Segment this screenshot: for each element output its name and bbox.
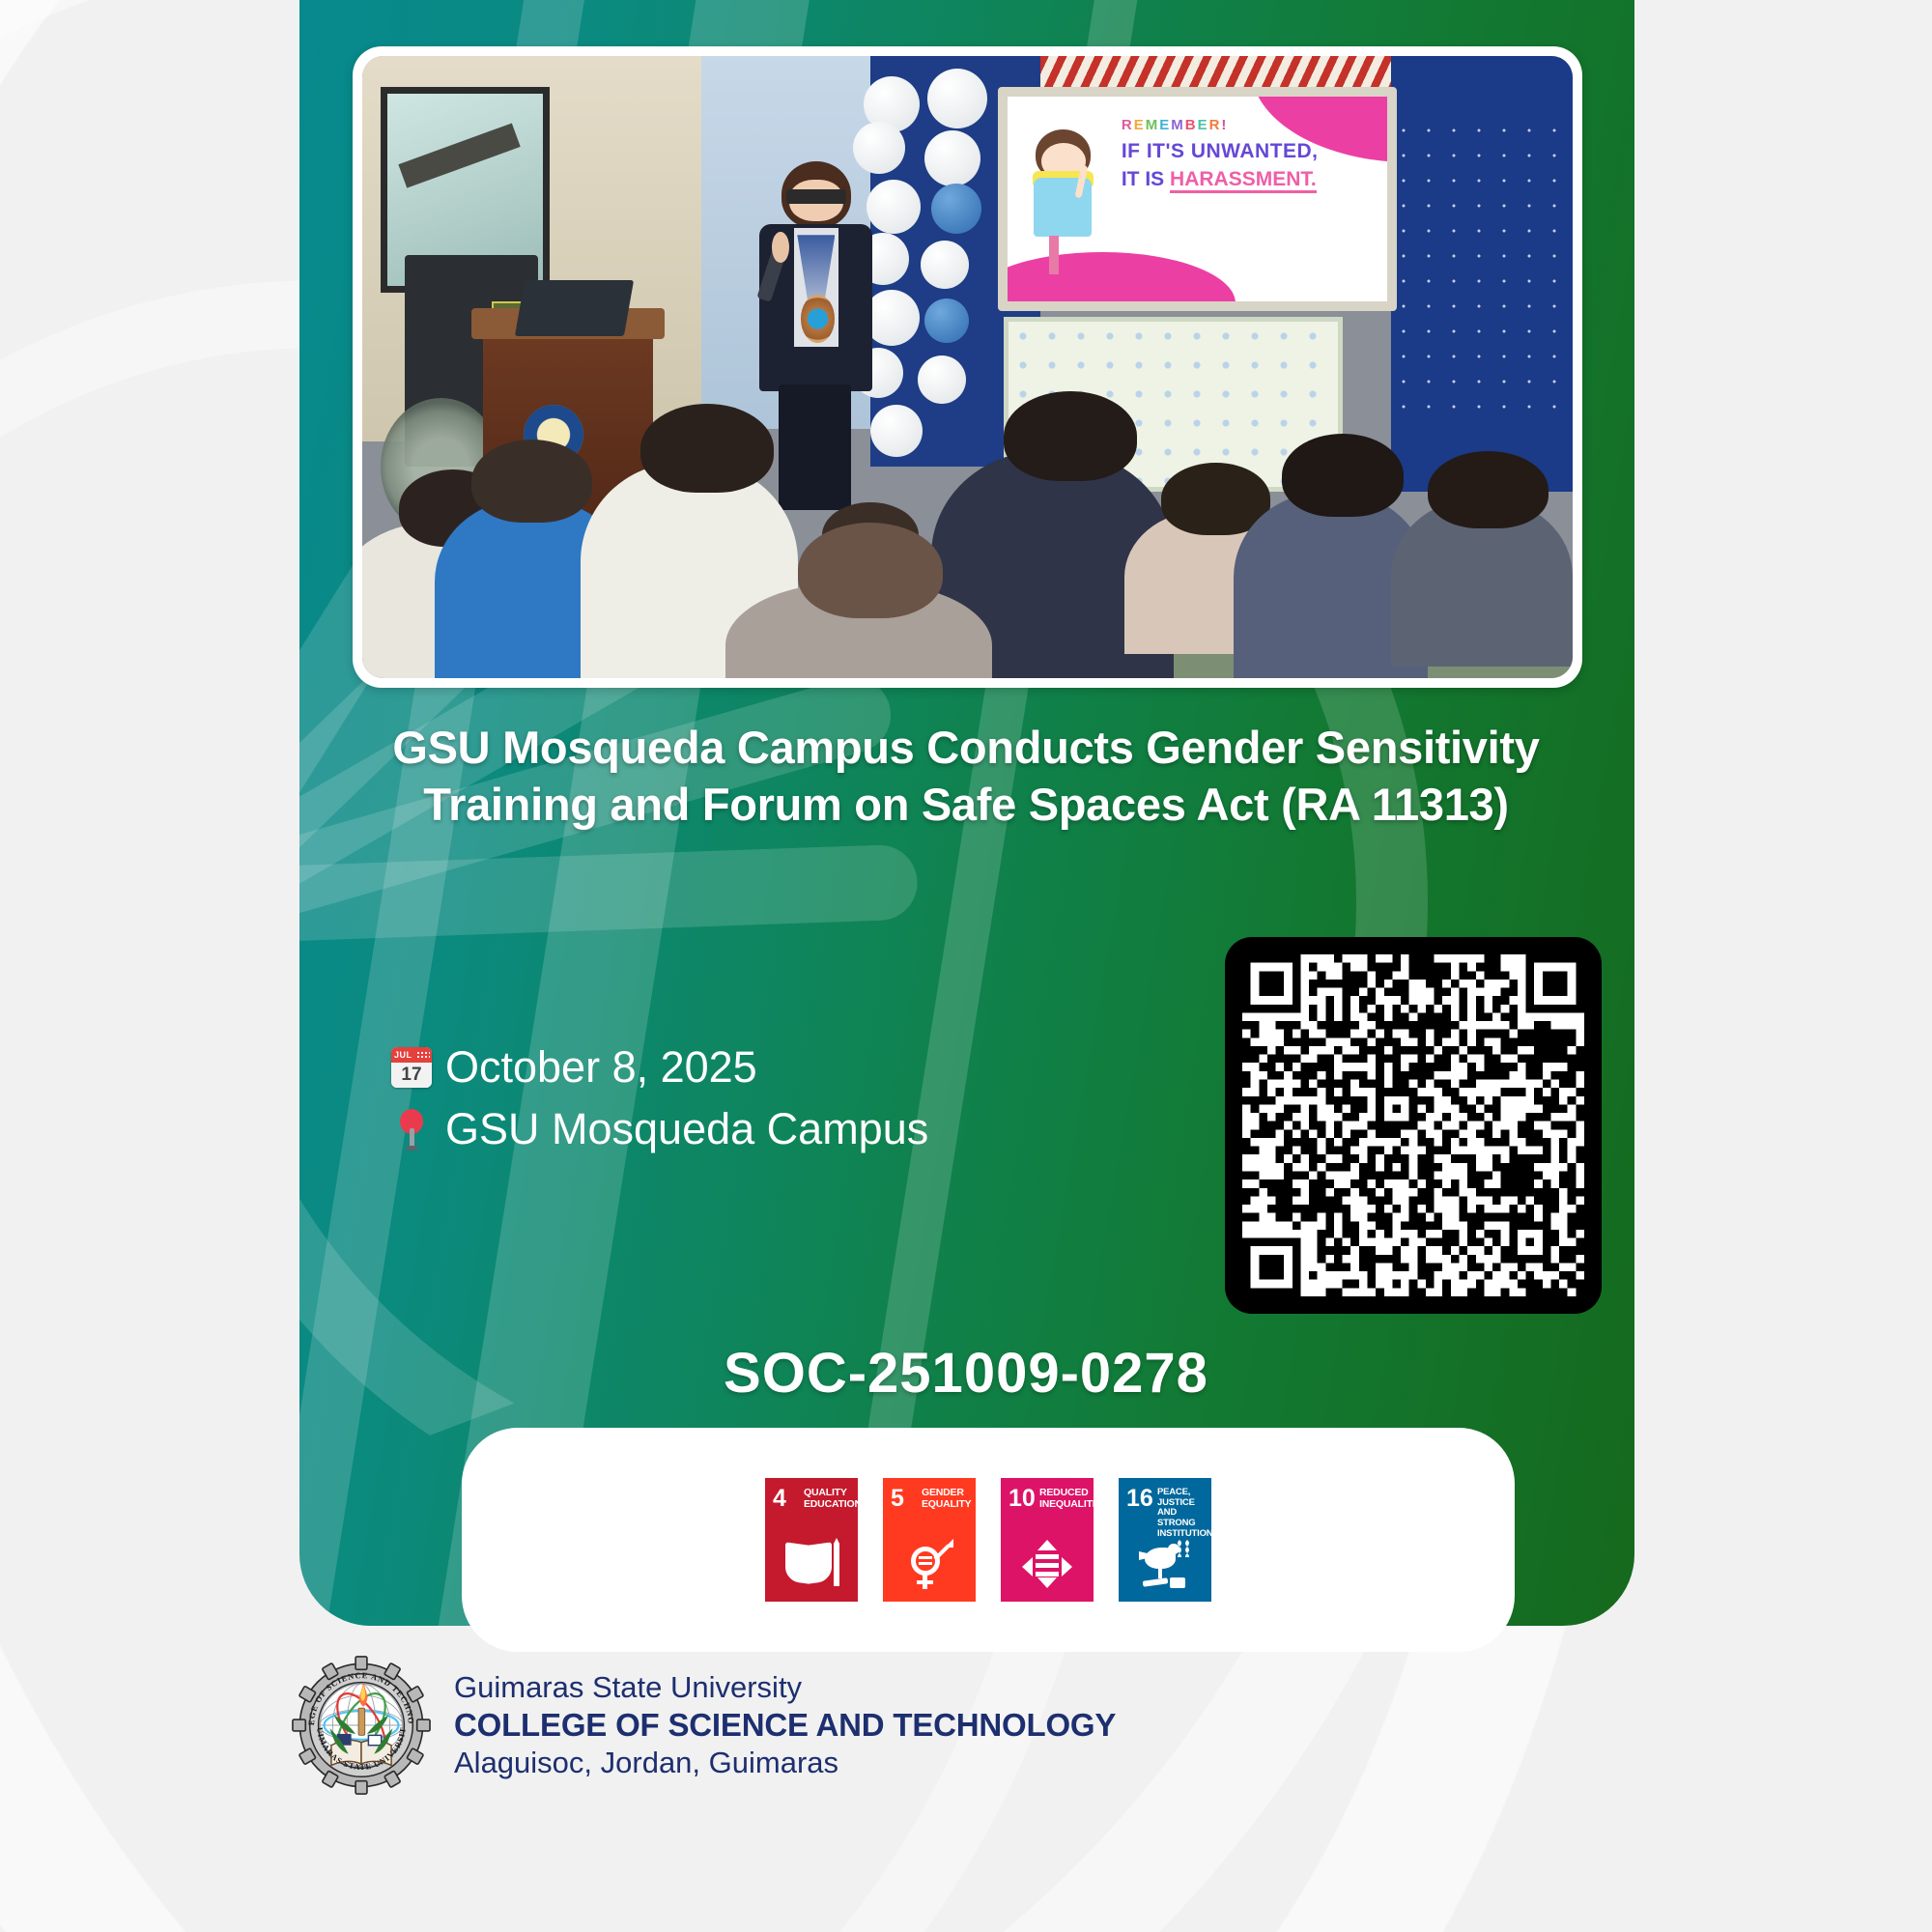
- event-location: GSU Mosqueda Campus: [445, 1098, 928, 1160]
- footer: 2015 COLLEGE OF SCIENCE AND TECHNOLOGY G…: [290, 1654, 1116, 1797]
- slide-remember-text: REMEMBER!: [1122, 117, 1373, 133]
- slide-line-1: IF IT'S UNWANTED,: [1122, 140, 1373, 163]
- calendar-icon-month: JUL: [391, 1047, 432, 1063]
- sdg-badges-panel: 4 QUALITY EDUCATION 5 GENDER EQUALITY 10…: [462, 1428, 1515, 1652]
- sdg-label: GENDER EQUALITY: [922, 1488, 971, 1511]
- photo-laptop: [515, 280, 634, 336]
- open-book-icon: [765, 1534, 858, 1594]
- event-photo: REMEMBER! IF IT'S UNWANTED, IT IS HARASS…: [362, 56, 1573, 678]
- university-seal-logo: 2015 COLLEGE OF SCIENCE AND TECHNOLOGY G…: [290, 1654, 433, 1797]
- equals-arrows-icon: [1001, 1534, 1094, 1594]
- footer-address: Alaguisoc, Jordan, Guimaras: [454, 1745, 1116, 1781]
- sdg-number: 10: [1009, 1487, 1036, 1511]
- gender-equality-icon: [883, 1534, 976, 1594]
- event-location-row: GSU Mosqueda Campus: [391, 1098, 928, 1160]
- dove-gavel-icon: [1119, 1534, 1211, 1594]
- sdg-label: QUALITY EDUCATION: [804, 1488, 853, 1511]
- sdg-badge-4: 4 QUALITY EDUCATION: [765, 1478, 858, 1602]
- event-meta: JUL 17 October 8, 2025 GSU Mosqueda Camp…: [391, 1037, 928, 1160]
- title-line-2: Training and Forum on Safe Spaces Act (R…: [343, 777, 1589, 834]
- footer-college: COLLEGE OF SCIENCE AND TECHNOLOGY: [454, 1706, 1116, 1745]
- slide-line-2: IT IS HARASSMENT.: [1122, 168, 1373, 191]
- footer-text: Guimaras State University COLLEGE OF SCI…: [454, 1669, 1116, 1781]
- title-line-1: GSU Mosqueda Campus Conducts Gender Sens…: [343, 720, 1589, 777]
- sdg-badge-16: 16 PEACE, JUSTICE AND STRONG INSTITUTION…: [1119, 1478, 1211, 1602]
- sdg-number: 4: [773, 1487, 786, 1511]
- event-photo-frame: REMEMBER! IF IT'S UNWANTED, IT IS HARASS…: [353, 46, 1582, 688]
- reference-code: SOC-251009-0278: [343, 1341, 1589, 1406]
- event-date: October 8, 2025: [445, 1037, 757, 1098]
- slide-text-block: REMEMBER! IF IT'S UNWANTED, IT IS HARASS…: [1122, 117, 1373, 191]
- calendar-icon-day: 17: [391, 1063, 432, 1088]
- slide-girl-illustration: [1026, 129, 1102, 277]
- sdg-badge-10: 10 REDUCED INEQUALITIES: [1001, 1478, 1094, 1602]
- slide-content: REMEMBER! IF IT'S UNWANTED, IT IS HARASS…: [1008, 97, 1387, 301]
- presentation-screen: REMEMBER! IF IT'S UNWANTED, IT IS HARASS…: [998, 87, 1397, 311]
- sdg-number: 16: [1126, 1487, 1153, 1511]
- sdg-badge-5: 5 GENDER EQUALITY: [883, 1478, 976, 1602]
- photo-audience: [362, 380, 1573, 678]
- sdg-number: 5: [891, 1487, 904, 1511]
- sdg-label: PEACE, JUSTICE AND STRONG INSTITUTIONS: [1157, 1488, 1207, 1539]
- calendar-icon: JUL 17: [391, 1047, 432, 1088]
- footer-university: Guimaras State University: [454, 1669, 1116, 1706]
- location-pin-icon: [391, 1107, 432, 1151]
- sdg-label: REDUCED INEQUALITIES: [1039, 1488, 1089, 1511]
- event-date-row: JUL 17 October 8, 2025: [391, 1037, 928, 1098]
- qr-code[interactable]: [1225, 937, 1602, 1314]
- page-title: GSU Mosqueda Campus Conducts Gender Sens…: [343, 720, 1589, 834]
